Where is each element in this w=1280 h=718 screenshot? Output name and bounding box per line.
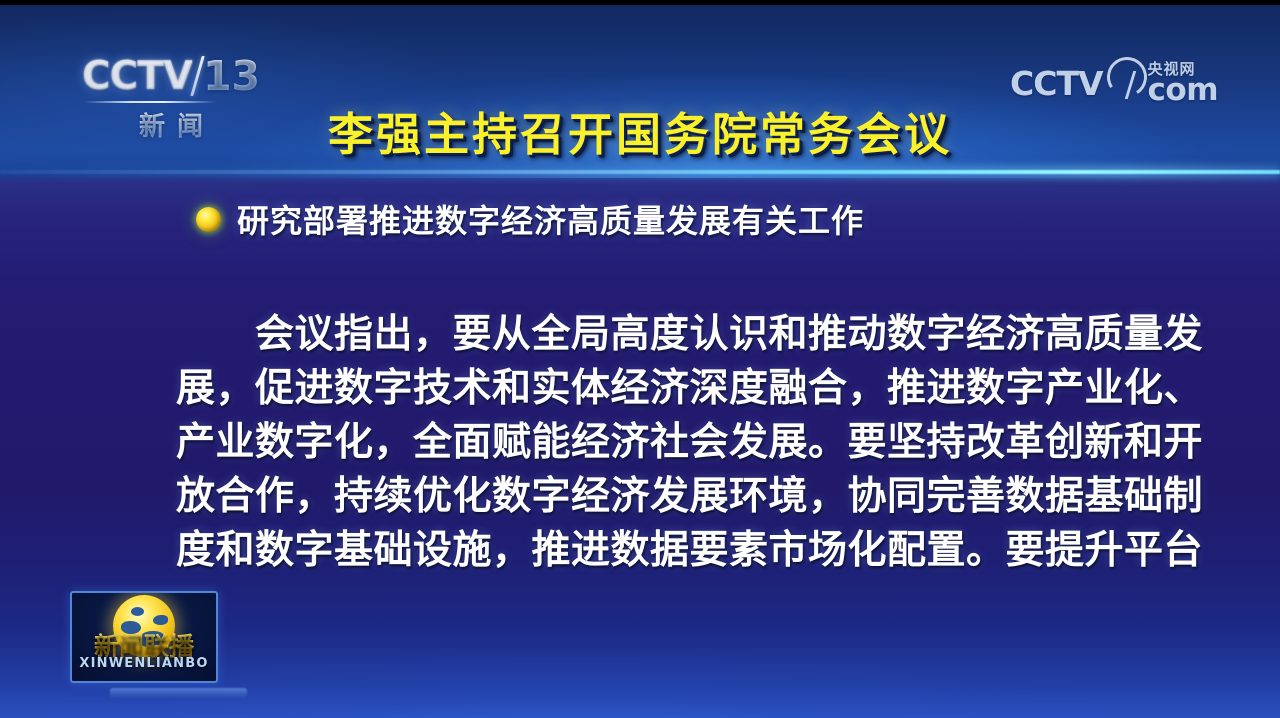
channel-logo-row: CCTV 13 [82,52,260,100]
body-line: 度和数字基础设施，推进数据要素市场化配置。要提升平台 [176,524,1126,578]
channel-number-label: 13 [203,52,260,100]
broadcast-screen: CCTV 13 新闻 CCTV 央视网 com 李强主持召开国务院常务会议 研究… [0,0,1280,718]
subtitle-row: 研究部署推进数字经济高质量发展有关工作 [196,196,864,242]
subtitle-label: 研究部署推进数字经济高质量发展有关工作 [237,196,864,242]
program-bug-shelf [110,688,247,698]
body-line: 会议指出，要从全局高度认识和推动数字经济高质量发 [176,308,1126,362]
body-line: 展，促进数字技术和实体经济深度融合，推进数字产业化、 [176,362,1126,416]
globe-landmass [153,615,168,625]
body-line: 产业数字化，全面赋能经济社会发展。要坚持改革创新和开 [176,416,1126,470]
letterbox-bar-top [0,0,1280,5]
watermark-domain-label: com [1148,78,1218,103]
body-paragraph: 会议指出，要从全局高度认识和推动数字经济高质量发 展，促进数字技术和实体经济深度… [176,308,1126,578]
body-line: 放合作，持续优化数字经济发展环境，协同完善数据基础制 [176,470,1126,524]
cctv-com-watermark: CCTV 央视网 com [1010,55,1218,103]
bullet-dot-icon [196,207,221,232]
watermark-right-group: 央视网 com [1148,62,1218,103]
watermark-row: CCTV 央视网 com [1010,55,1218,103]
program-bug: 新闻联播 XINWENLIANBO [70,591,218,683]
watermark-brand-label: CCTV [1010,64,1103,103]
header-separator-line [0,170,1280,174]
watermark-arc-icon [1105,55,1145,103]
channel-logo: CCTV 13 新闻 [82,52,260,143]
program-pinyin-label: XINWENLIANBO [72,656,216,671]
channel-network-label: CCTV [82,54,192,99]
channel-logo-underline [84,101,216,103]
channel-name-label: 新闻 [82,106,260,143]
globe-landmass [131,607,144,616]
